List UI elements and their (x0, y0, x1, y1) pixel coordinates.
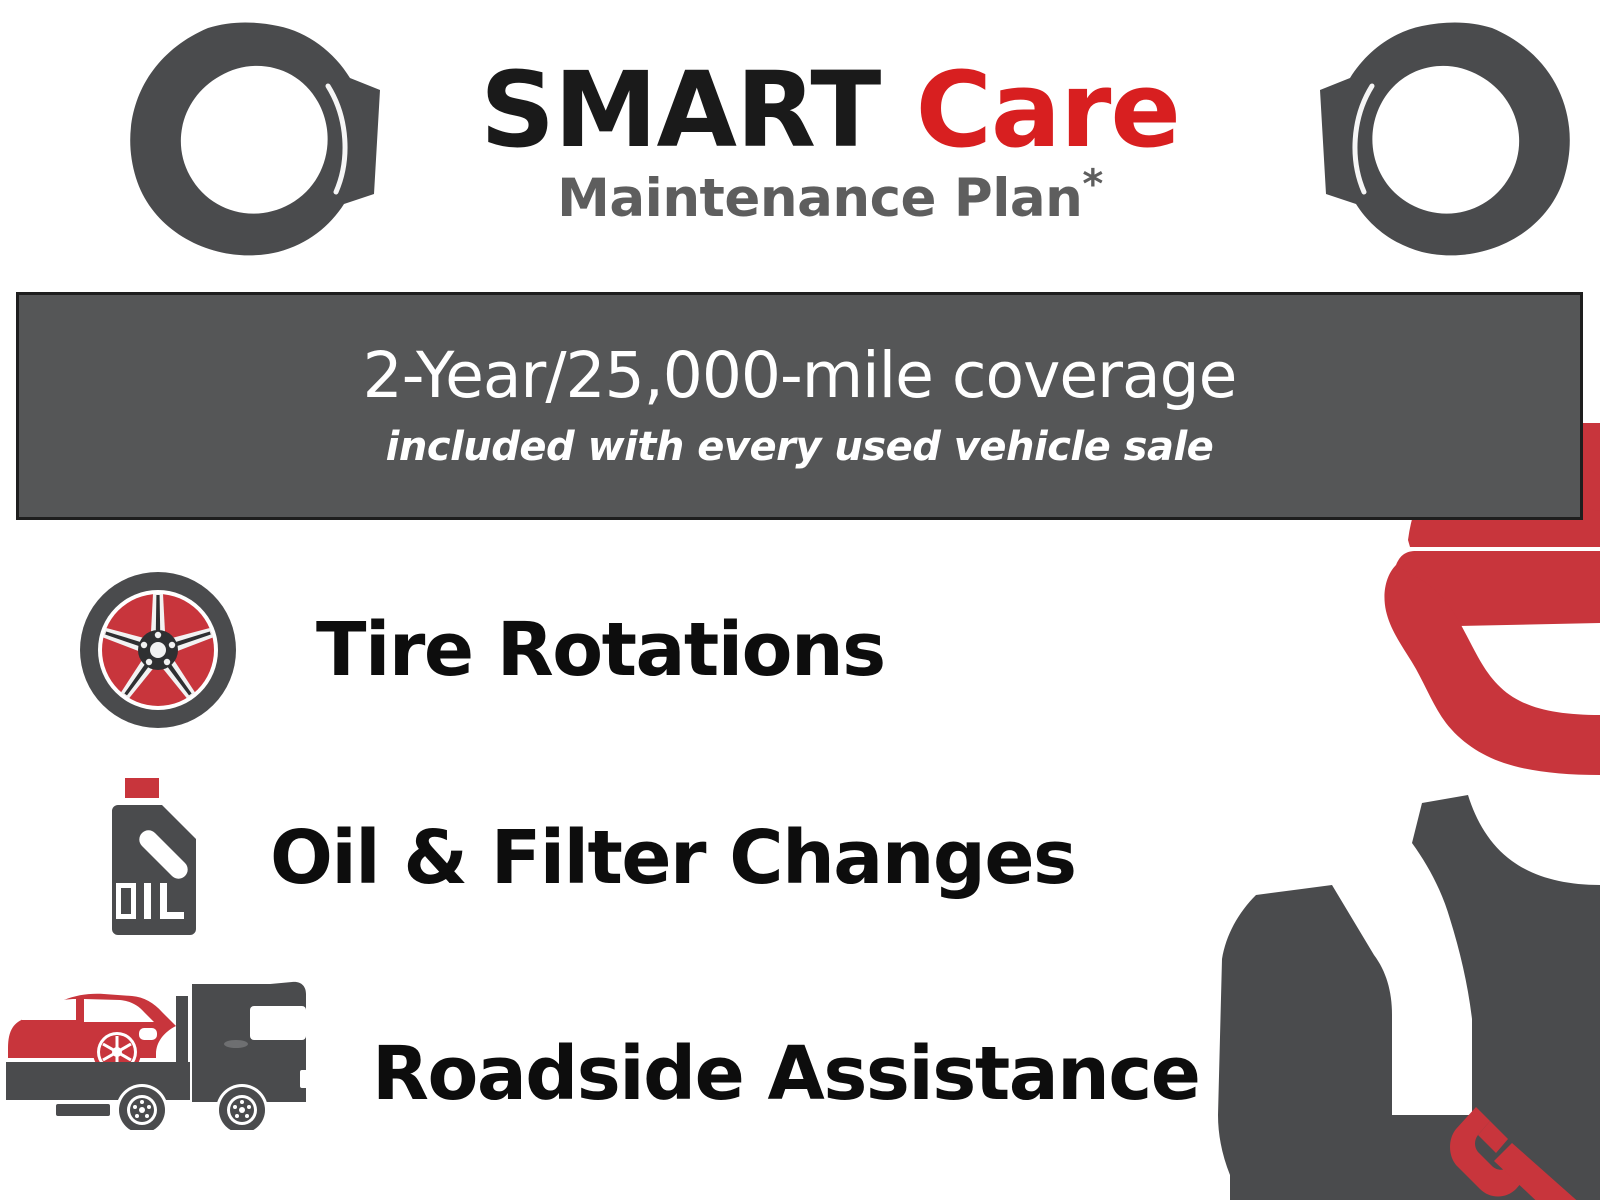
logo-wordmark: SMART Care (430, 58, 1230, 162)
list-item: Tire Rotations (78, 570, 885, 730)
coverage-subline: included with every used vehicle sale (386, 424, 1214, 470)
wrench-icon (112, 8, 452, 273)
list-item: Oil & Filter Changes (100, 775, 1076, 940)
logo-tagline-text: Maintenance Plan (557, 168, 1082, 229)
logo-care-text: Care (916, 49, 1180, 171)
logo-text-block: SMART Care Maintenance Plan* (430, 58, 1230, 229)
coverage-headline: 2-Year/25,000-mile coverage (363, 339, 1237, 412)
feature-label: Tire Rotations (316, 607, 885, 693)
mechanic-with-wrench-icon (1160, 415, 1600, 1200)
logo-smart-text: SMART (480, 49, 880, 171)
logo-tagline-asterisk: * (1082, 161, 1102, 207)
oil-bottle-icon (100, 775, 210, 940)
logo-tagline: Maintenance Plan* (430, 168, 1230, 229)
tow-truck-icon (4, 970, 334, 1130)
feature-list: Tire Rotations Oil & Filter Changes (0, 530, 1180, 1190)
coverage-banner: 2-Year/25,000-mile coverage included wit… (16, 292, 1583, 520)
feature-label: Oil & Filter Changes (270, 815, 1076, 901)
feature-label: Roadside Assistance (372, 1031, 1199, 1117)
smart-care-promo-graphic: SMART Care Maintenance Plan* 2-Year/25,0… (0, 0, 1600, 1200)
list-item: Roadside Assistance (4, 970, 1199, 1130)
logo-band: SMART Care Maintenance Plan* (0, 0, 1600, 285)
tire-wheel-icon (78, 570, 238, 730)
wrench-icon (1248, 8, 1588, 273)
